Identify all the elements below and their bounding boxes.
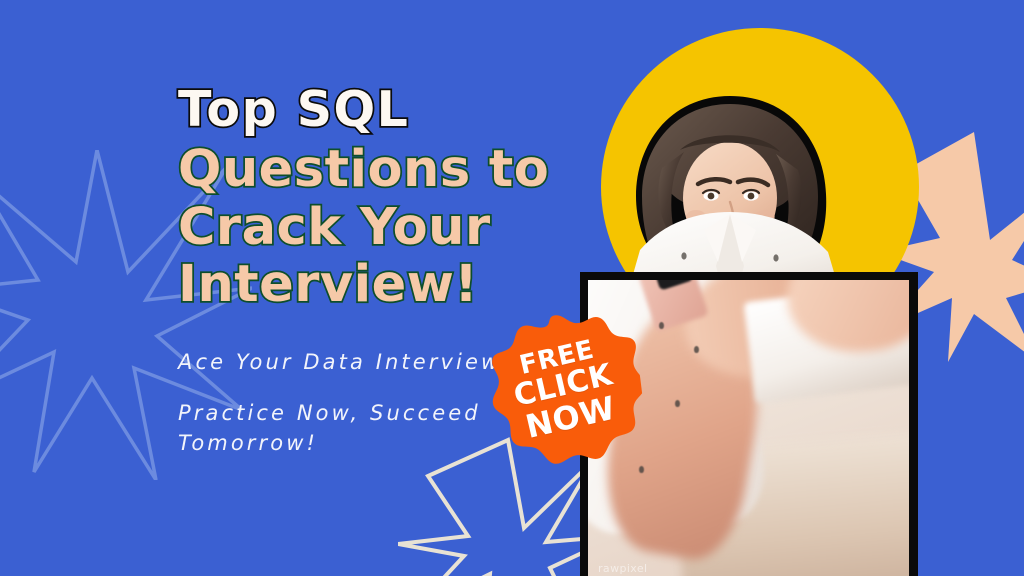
starburst-sticker-icon xyxy=(478,302,650,476)
page-title-main-line-1: Questions to xyxy=(178,141,558,198)
page-title-top: Top SQL xyxy=(178,84,558,135)
page-title-main-line-3: Interview! xyxy=(178,256,558,313)
headline-block: Top SQL Questions to Crack Your Intervie… xyxy=(178,84,558,313)
page-title-main-line-2: Crack Your xyxy=(178,199,558,256)
page-title-main: Questions to Crack Your Interview! xyxy=(178,141,558,312)
free-click-now-badge[interactable]: FREE CLICK NOW xyxy=(478,302,650,476)
photo-watermark: rawpixel xyxy=(598,562,648,575)
promo-banner: rawpixel Top SQL Questions to Crack Your… xyxy=(0,0,1024,576)
